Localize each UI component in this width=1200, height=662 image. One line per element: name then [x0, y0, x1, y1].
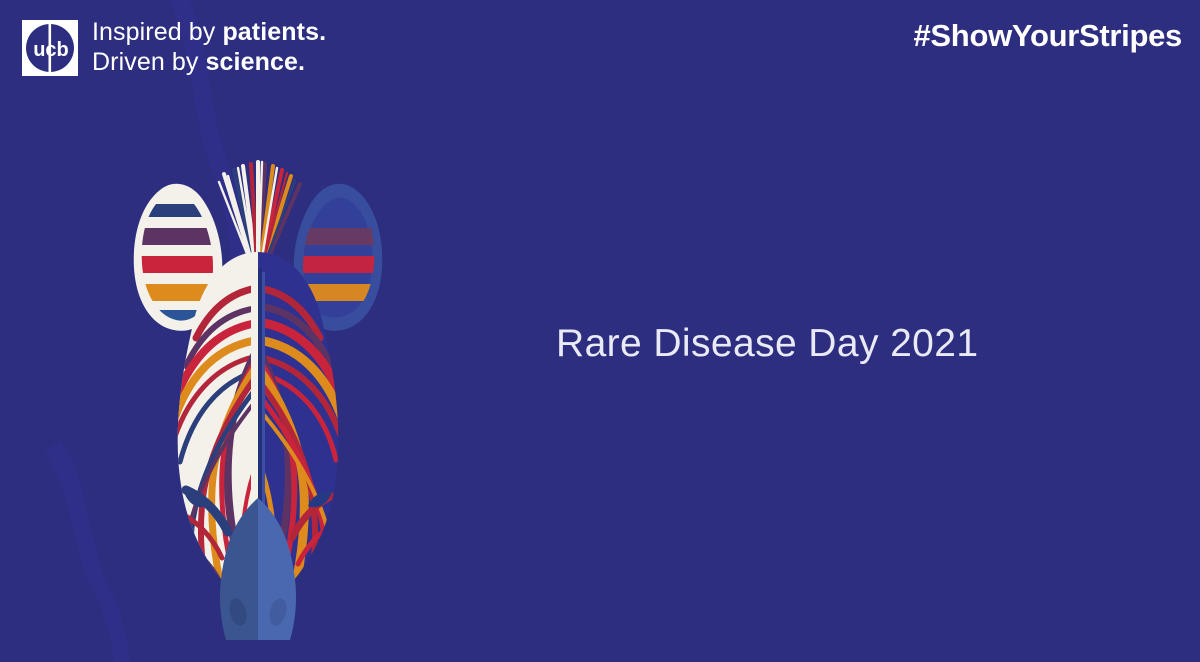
- tagline-2-bold: science.: [206, 48, 305, 76]
- tagline-1-light: Inspired by: [92, 18, 222, 46]
- campaign-hashtag: #ShowYourStripes: [913, 18, 1182, 54]
- zebra-head-illustration: [118, 160, 398, 640]
- tagline-1-bold: patients.: [222, 18, 326, 46]
- ucb-logo-mark: ucb: [22, 20, 78, 76]
- ucb-tagline: Inspired by patients. Driven by science.: [92, 18, 326, 77]
- tagline-line-2: Driven by science.: [92, 48, 326, 78]
- tagline-2-light: Driven by: [92, 48, 206, 76]
- page-title: Rare Disease Day 2021: [556, 322, 978, 366]
- ucb-logo-text: ucb: [33, 39, 69, 61]
- tagline-line-1: Inspired by patients.: [92, 18, 326, 48]
- banner-canvas: ucb Inspired by patients. Driven by scie…: [0, 0, 1200, 662]
- ucb-logo-block: ucb Inspired by patients. Driven by scie…: [22, 18, 326, 77]
